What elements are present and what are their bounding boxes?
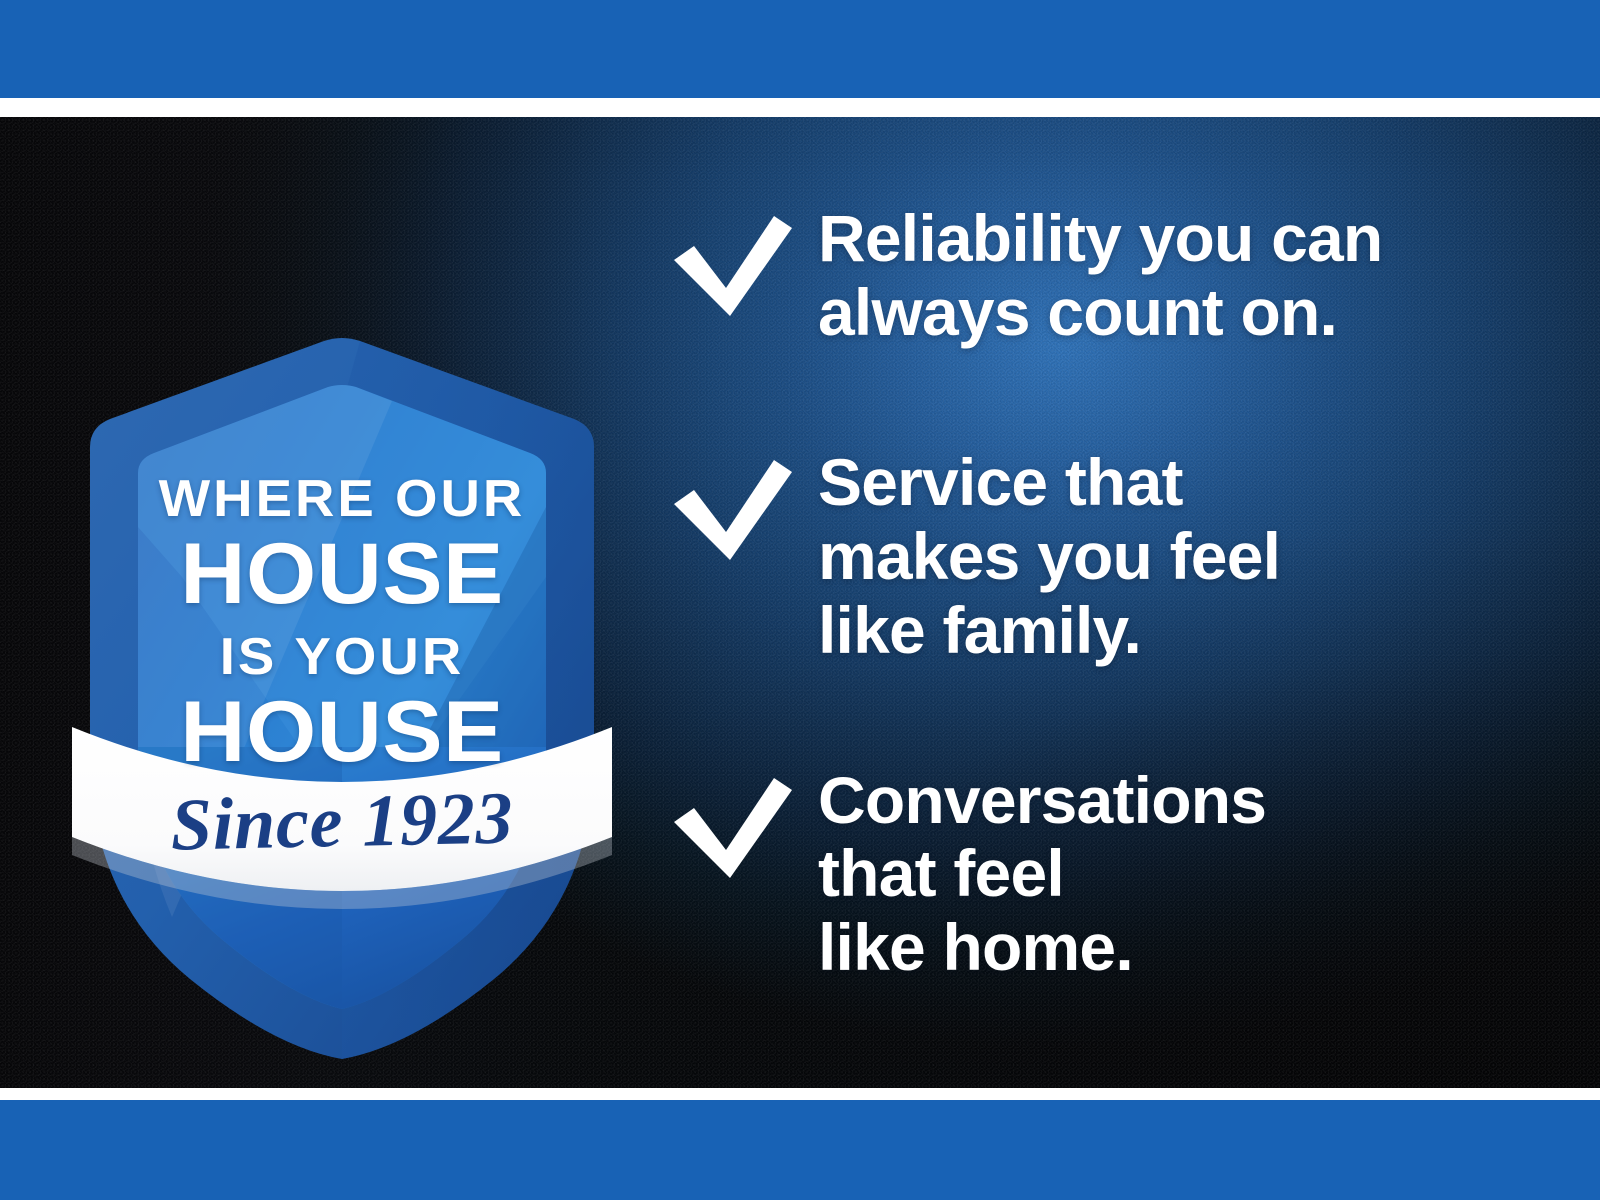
list-item: Conversations that feel like home. bbox=[668, 764, 1548, 986]
check-icon bbox=[668, 446, 818, 564]
list-item: Service that makes you feel like family. bbox=[668, 446, 1548, 668]
list-item-label: Service that makes you feel like family. bbox=[818, 446, 1548, 668]
bottom-brand-bar bbox=[0, 1100, 1600, 1200]
bottom-white-divider bbox=[0, 1088, 1600, 1100]
check-icon bbox=[668, 202, 818, 320]
benefits-list: Reliability you can always count on. Ser… bbox=[668, 202, 1548, 985]
top-brand-bar bbox=[0, 0, 1600, 98]
list-item-label: Conversations that feel like home. bbox=[818, 764, 1548, 986]
shield-logo: WHERE OUR HOUSE IS YOUR HOUSE Since 1923 bbox=[62, 277, 622, 1067]
check-icon bbox=[668, 764, 818, 882]
promo-graphic: WHERE OUR HOUSE IS YOUR HOUSE Since 1923… bbox=[0, 0, 1600, 1200]
list-item: Reliability you can always count on. bbox=[668, 202, 1548, 350]
list-item-label: Reliability you can always count on. bbox=[818, 202, 1548, 350]
main-panel: WHERE OUR HOUSE IS YOUR HOUSE Since 1923… bbox=[0, 117, 1600, 1088]
top-white-divider bbox=[0, 98, 1600, 117]
